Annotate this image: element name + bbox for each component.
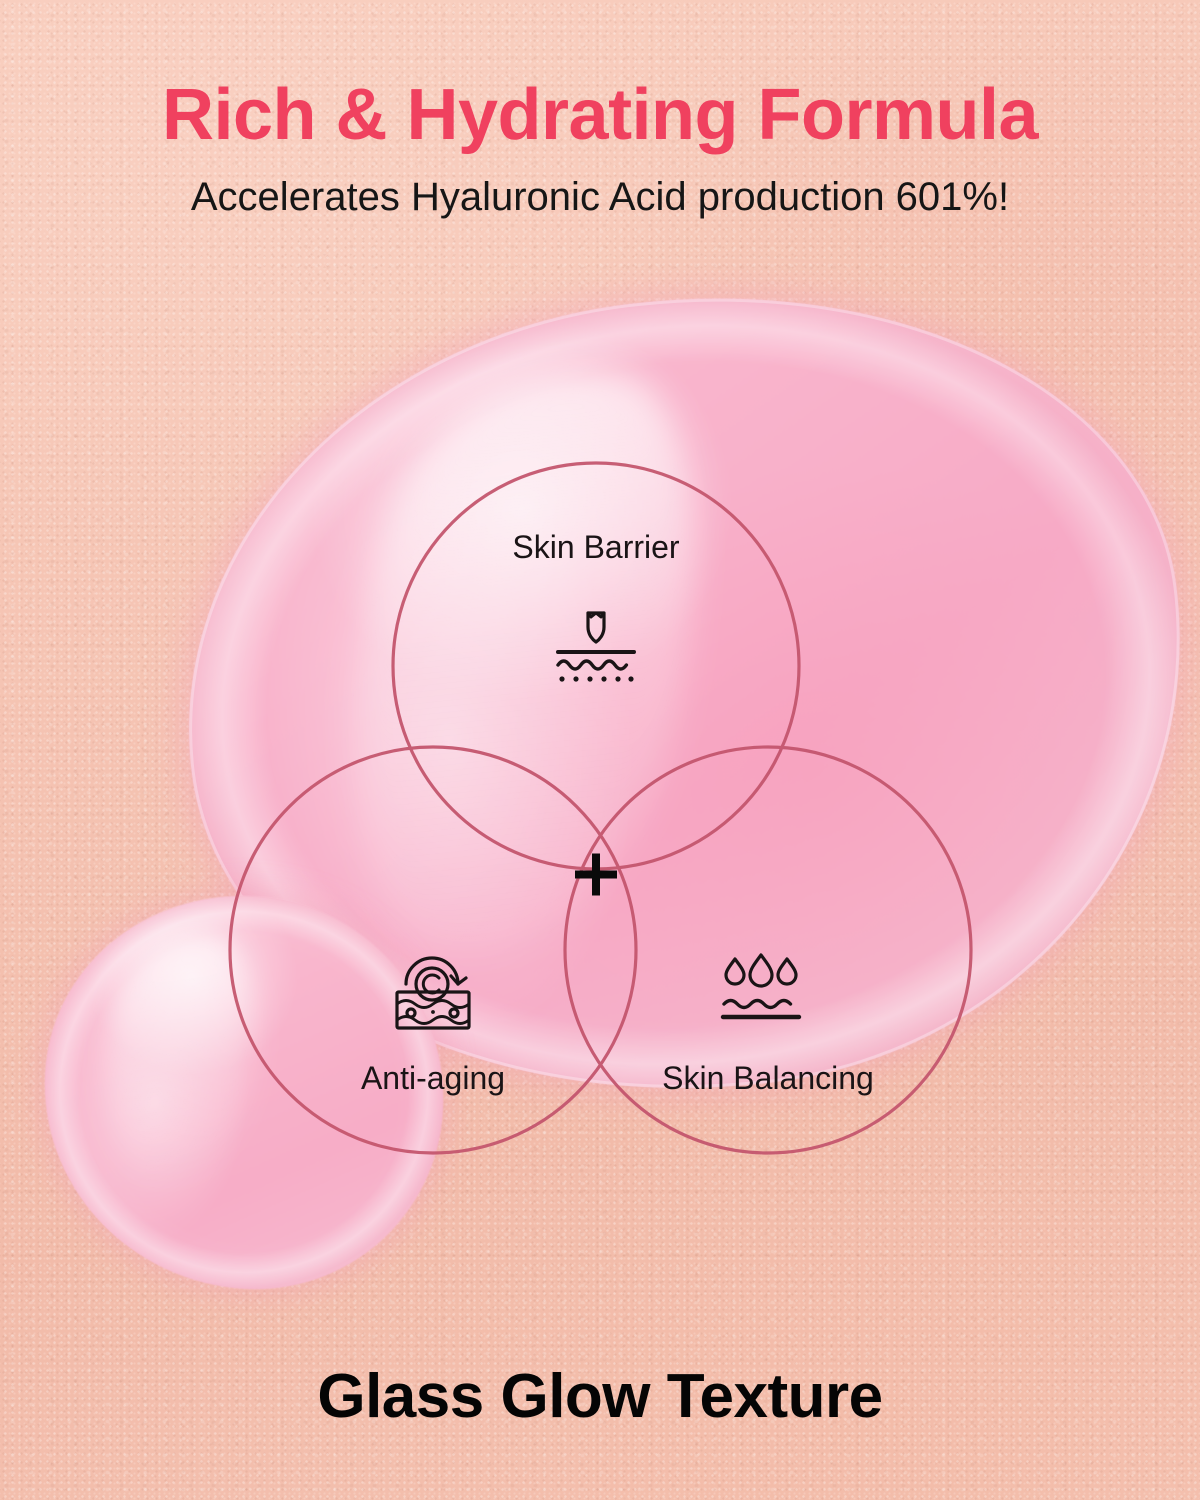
plus-symbol-icon: [572, 851, 620, 904]
venn-label-skin-balancing: Skin Balancing: [662, 1060, 874, 1097]
venn-circles-svg: [0, 0, 1200, 1500]
collagen-renewal-skin-icon: [384, 952, 482, 1043]
water-droplets-over-waves-icon: [718, 953, 804, 1030]
footer-caption: Glass Glow Texture: [0, 1361, 1200, 1432]
venn-diagram: Skin Barrier Anti-aging Skin Balancing: [0, 0, 1200, 1500]
venn-label-anti-aging: Anti-aging: [361, 1060, 505, 1097]
venn-label-skin-barrier: Skin Barrier: [512, 529, 679, 566]
shield-over-skin-layers-icon: [548, 608, 644, 691]
product-feature-graphic: Rich & Hydrating Formula Accelerates Hya…: [0, 0, 1200, 1500]
